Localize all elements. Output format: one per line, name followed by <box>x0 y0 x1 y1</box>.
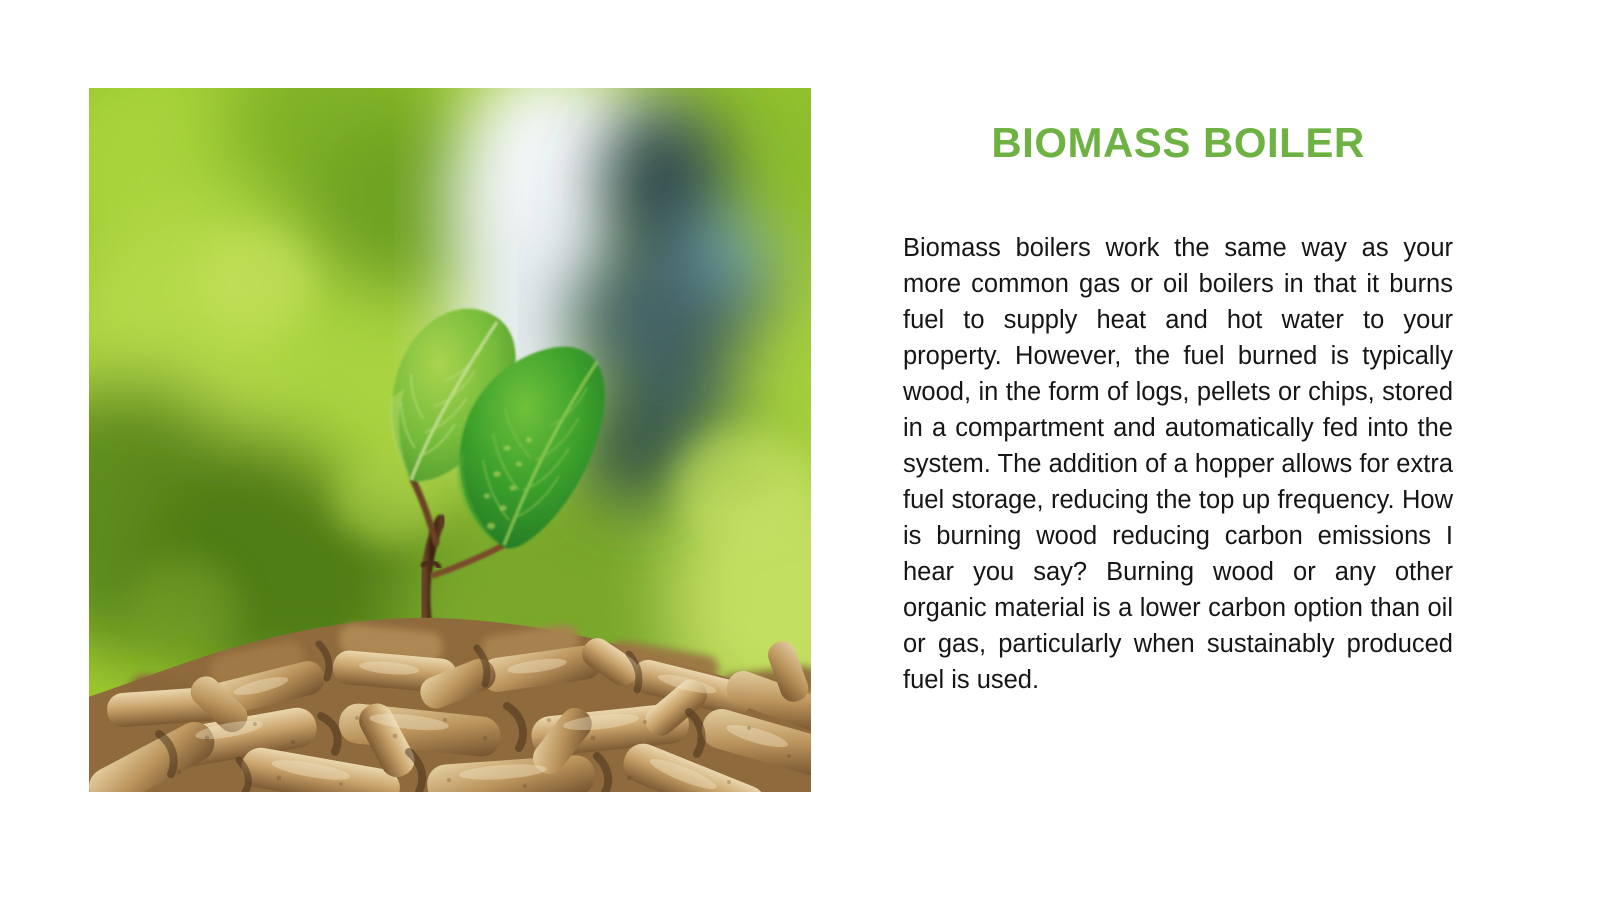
body-paragraph: Biomass boilers work the same way as you… <box>903 230 1453 698</box>
text-column: BIOMASS BOILER Biomass boilers work the … <box>903 120 1453 698</box>
biomass-photo-illustration <box>89 88 811 792</box>
biomass-pellets-photo <box>89 88 811 792</box>
slide-root: BIOMASS BOILER Biomass boilers work the … <box>0 0 1600 900</box>
page-title: BIOMASS BOILER <box>903 120 1453 166</box>
